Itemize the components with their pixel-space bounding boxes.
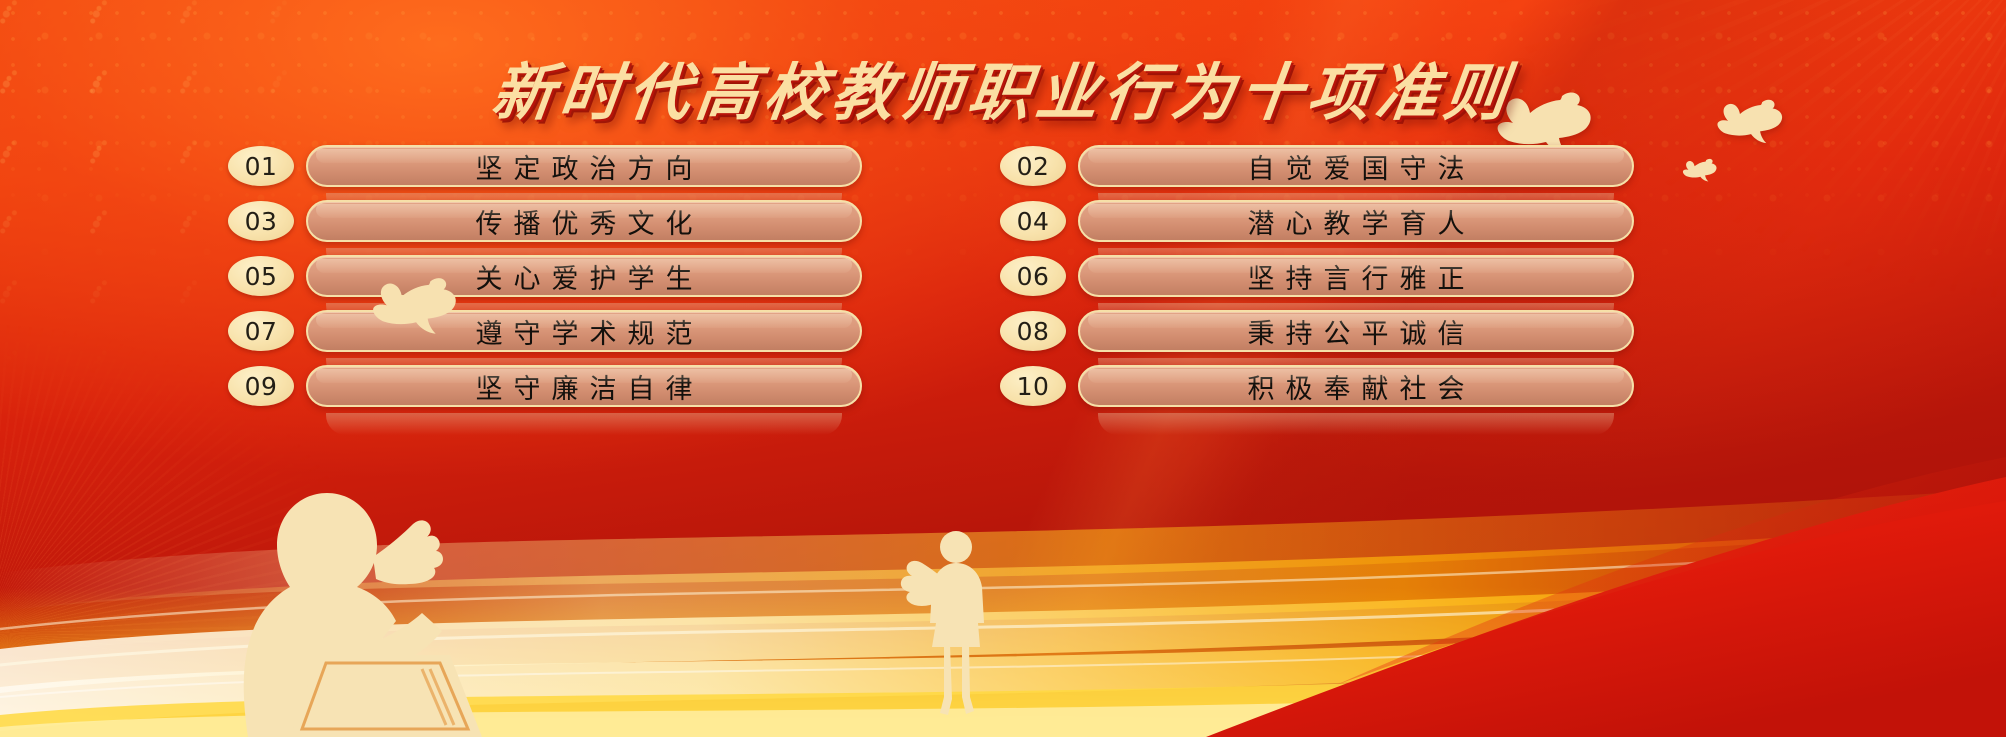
guideline-item-06[interactable]: 06 坚持言行雅正: [1000, 254, 1750, 298]
guideline-row: 07 遵守学术规范 08 秉持公平诚信: [0, 309, 2006, 364]
guideline-item-03[interactable]: 03 传播优秀文化: [228, 199, 978, 243]
guideline-label: 传播优秀文化: [465, 202, 704, 241]
guideline-number-badge: 06: [1000, 256, 1066, 296]
guideline-number-badge: 05: [228, 256, 294, 296]
dove-icon: [371, 276, 479, 340]
red-ribbon-curve: [906, 437, 2006, 737]
guideline-number-badge: 02: [1000, 146, 1066, 186]
guideline-label: 关心爱护学生: [465, 257, 704, 296]
guideline-item-10[interactable]: 10 积极奉献社会: [1000, 364, 1750, 408]
poster-banner: 新时代高校教师职业行为十项准则 01 坚定政治方向 02 自觉爱国守法: [0, 0, 2006, 737]
guideline-pill[interactable]: 自觉爱国守法: [1078, 145, 1634, 187]
guideline-item-05[interactable]: 05 关心爱护学生: [228, 254, 978, 298]
guideline-pill[interactable]: 坚守廉洁自律: [306, 365, 862, 407]
guideline-number-badge: 09: [228, 366, 294, 406]
guideline-row: 03 传播优秀文化 04 潜心教学育人: [0, 199, 2006, 254]
guideline-pill[interactable]: 坚持言行雅正: [1078, 255, 1634, 297]
guideline-item-08[interactable]: 08 秉持公平诚信: [1000, 309, 1750, 353]
guideline-row: 05 关心爱护学生 06 坚持言行雅正: [0, 254, 2006, 309]
student-raising-hand-silhouette: [892, 519, 1012, 719]
guideline-number-badge: 03: [228, 201, 294, 241]
guideline-item-09[interactable]: 09 坚守廉洁自律: [228, 364, 978, 408]
guideline-pill[interactable]: 潜心教学育人: [1078, 200, 1634, 242]
guideline-label: 坚定政治方向: [465, 147, 704, 186]
guideline-number-badge: 08: [1000, 311, 1066, 351]
title-container: 新时代高校教师职业行为十项准则: [0, 42, 2006, 132]
guideline-label: 秉持公平诚信: [1237, 312, 1476, 351]
guideline-item-07[interactable]: 07 遵守学术规范: [228, 309, 978, 353]
guideline-row: 01 坚定政治方向 02 自觉爱国守法: [0, 144, 2006, 199]
guideline-number-badge: 01: [228, 146, 294, 186]
guidelines-list: 01 坚定政治方向 02 自觉爱国守法 03 传播优秀文化 04: [0, 144, 2006, 419]
guideline-number-badge: 10: [1000, 366, 1066, 406]
guideline-row: 09 坚守廉洁自律 10 积极奉献社会: [0, 364, 2006, 419]
guideline-pill[interactable]: 秉持公平诚信: [1078, 310, 1634, 352]
guideline-item-01[interactable]: 01 坚定政治方向: [228, 144, 978, 188]
guideline-label: 自觉爱国守法: [1237, 147, 1476, 186]
guideline-label: 潜心教学育人: [1237, 202, 1476, 241]
guideline-label: 坚守廉洁自律: [465, 367, 704, 406]
guideline-item-02[interactable]: 02 自觉爱国守法: [1000, 144, 1750, 188]
guideline-item-04[interactable]: 04 潜心教学育人: [1000, 199, 1750, 243]
guideline-number-badge: 04: [1000, 201, 1066, 241]
guideline-pill[interactable]: 坚定政治方向: [306, 145, 862, 187]
guideline-label: 坚持言行雅正: [1237, 257, 1476, 296]
page-title: 新时代高校教师职业行为十项准则: [487, 42, 1518, 132]
guideline-pill[interactable]: 积极奉献社会: [1078, 365, 1634, 407]
guideline-label: 积极奉献社会: [1237, 367, 1476, 406]
guideline-label: 遵守学术规范: [465, 312, 704, 351]
guideline-number-badge: 07: [228, 311, 294, 351]
guideline-pill[interactable]: 传播优秀文化: [306, 200, 862, 242]
